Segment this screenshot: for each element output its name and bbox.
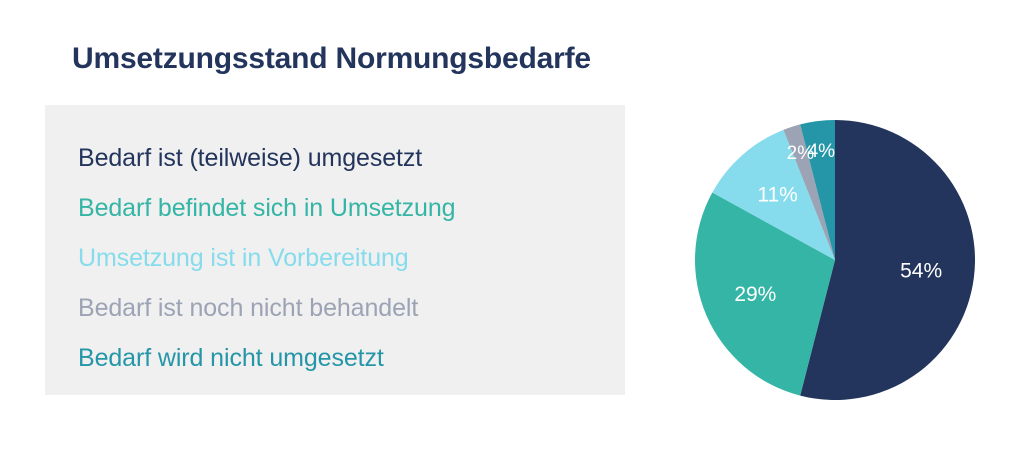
- slide-canvas: Umsetzungsstand Normungsbedarfe Bedarf i…: [0, 0, 1024, 454]
- legend-item: Umsetzung ist in Vorbereitung: [78, 233, 613, 283]
- legend-panel: Bedarf ist (teilweise) umgesetztBedarf b…: [45, 105, 625, 395]
- pie-slice-label: 4%: [808, 141, 836, 162]
- legend-item: Bedarf befindet sich in Umsetzung: [78, 183, 613, 233]
- legend-item: Bedarf ist (teilweise) umgesetzt: [78, 133, 613, 183]
- pie-chart: 54%29%11%2%4%: [695, 120, 975, 400]
- legend-list: Bedarf ist (teilweise) umgesetztBedarf b…: [78, 133, 613, 383]
- page-title: Umsetzungsstand Normungsbedarfe: [72, 42, 591, 75]
- legend-item: Bedarf wird nicht umgesetzt: [78, 333, 613, 383]
- pie-slice-label: 11%: [757, 183, 797, 206]
- pie-slice-label: 54%: [900, 259, 942, 282]
- legend-item: Bedarf ist noch nicht behandelt: [78, 283, 613, 333]
- pie-slice-label: 29%: [734, 283, 776, 306]
